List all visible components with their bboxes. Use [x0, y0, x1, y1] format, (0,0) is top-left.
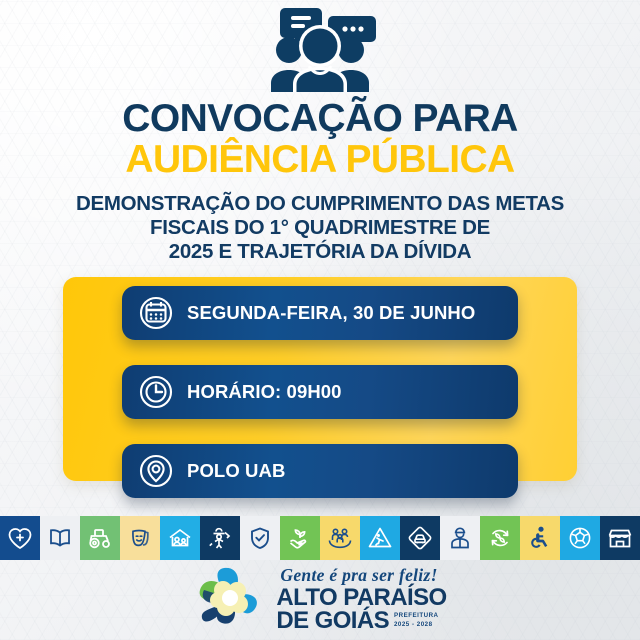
road-work-sign-icon	[366, 524, 394, 552]
logo-subtitle-line1: PREFEITURA	[394, 612, 439, 621]
title-block: CONVOCAÇÃO PARA AUDIÊNCIA PÚBLICA DEMONS…	[0, 92, 640, 264]
logo-subtitle: PREFEITURA 2025 - 2028	[394, 612, 439, 632]
tractor-agriculture-icon	[86, 524, 114, 552]
soccer-ball-sports-icon	[566, 524, 594, 552]
info-card-date: SEGUNDA-FEIRA, 30 DE JUNHO	[122, 286, 518, 340]
wheelchair-accessibility-icon	[526, 524, 554, 552]
strip-tile-recycling	[480, 516, 520, 560]
hand-plant-environment-icon	[286, 524, 314, 552]
theater-masks-culture-icon	[126, 524, 154, 552]
strip-tile-commerce	[600, 516, 640, 560]
logo-name-line1: ALTO PARAÍSO	[276, 586, 446, 609]
page-subtitle: DEMONSTRAÇÃO DO CUMPRIMENTO DAS METAS FI…	[0, 192, 640, 264]
municipality-logo: Gente é pra ser feliz! ALTO PARAÍSO DE G…	[0, 560, 640, 640]
family-house-social-icon	[166, 524, 194, 552]
strip-tile-accessibility	[520, 516, 560, 560]
poster-root: CONVOCAÇÃO PARA AUDIÊNCIA PÚBLICA DEMONS…	[0, 0, 640, 640]
logo-subtitle-line2: 2025 - 2028	[394, 621, 439, 630]
hero-illustration	[0, 0, 640, 92]
logo-name-row2: DE GOIÁS PREFEITURA 2025 - 2028	[276, 609, 446, 632]
info-card-location: POLO UAB	[122, 444, 518, 498]
strip-tile-infrastructure	[200, 516, 240, 560]
map-pin-icon	[137, 453, 174, 490]
info-card-date-text: SEGUNDA-FEIRA, 30 DE JUNHO	[187, 302, 475, 324]
info-card-list: SEGUNDA-FEIRA, 30 DE JUNHO HORÁRIO: 09H0…	[0, 277, 640, 504]
strip-tile-social	[160, 516, 200, 560]
strip-tile-education	[40, 516, 80, 560]
logo-name-line2: DE GOIÁS	[276, 609, 389, 632]
page-title-line2: AUDIÊNCIA PÚBLICA	[0, 140, 640, 179]
strip-tile-sports	[560, 516, 600, 560]
info-card-time-text: HORÁRIO: 09H00	[187, 381, 342, 403]
strip-tile-agriculture	[80, 516, 120, 560]
market-shop-icon	[606, 524, 634, 552]
info-card-time: HORÁRIO: 09H00	[122, 365, 518, 419]
info-card-location-text: POLO UAB	[187, 460, 285, 482]
clock-icon	[137, 374, 174, 411]
family-in-hands-icon	[326, 524, 354, 552]
strip-tile-road-work	[360, 516, 400, 560]
logo-wordmark: Gente é pra ser feliz! ALTO PARAÍSO DE G…	[276, 567, 446, 632]
strip-tile-heart-plus-health	[0, 516, 40, 560]
shield-check-security-icon	[246, 524, 274, 552]
page-subtitle-line1: DEMONSTRAÇÃO DO CUMPRIMENTO DAS METAS	[0, 192, 640, 216]
open-book-education-icon	[46, 524, 74, 552]
calendar-icon	[137, 295, 174, 332]
strip-tile-security	[240, 516, 280, 560]
strip-tile-family-assistance	[320, 516, 360, 560]
strip-tile-environment	[280, 516, 320, 560]
traffic-car-sign-icon	[406, 524, 434, 552]
strip-tile-public-servant	[440, 516, 480, 560]
construction-worker-icon	[206, 524, 234, 552]
service-icon-strip	[0, 516, 640, 560]
page-subtitle-line2: FISCAIS DO 1° QUADRIMESTRE DE	[0, 216, 640, 240]
strip-tile-traffic	[400, 516, 440, 560]
recycle-leaves-icon	[486, 524, 514, 552]
strip-tile-culture	[120, 516, 160, 560]
person-worker-icon	[446, 524, 474, 552]
heart-plus-health-icon	[6, 524, 34, 552]
page-title-line1: CONVOCAÇÃO PARA	[0, 100, 640, 138]
logo-slogan: Gente é pra ser feliz!	[276, 567, 446, 585]
details-panel: SEGUNDA-FEIRA, 30 DE JUNHO HORÁRIO: 09H0…	[0, 277, 640, 504]
page-subtitle-line3: 2025 E TRAJETÓRIA DA DÍVIDA	[0, 240, 640, 264]
people-group-speech-bubbles-icon	[257, 6, 383, 92]
flower-pinwheel-logo-icon	[193, 564, 267, 636]
